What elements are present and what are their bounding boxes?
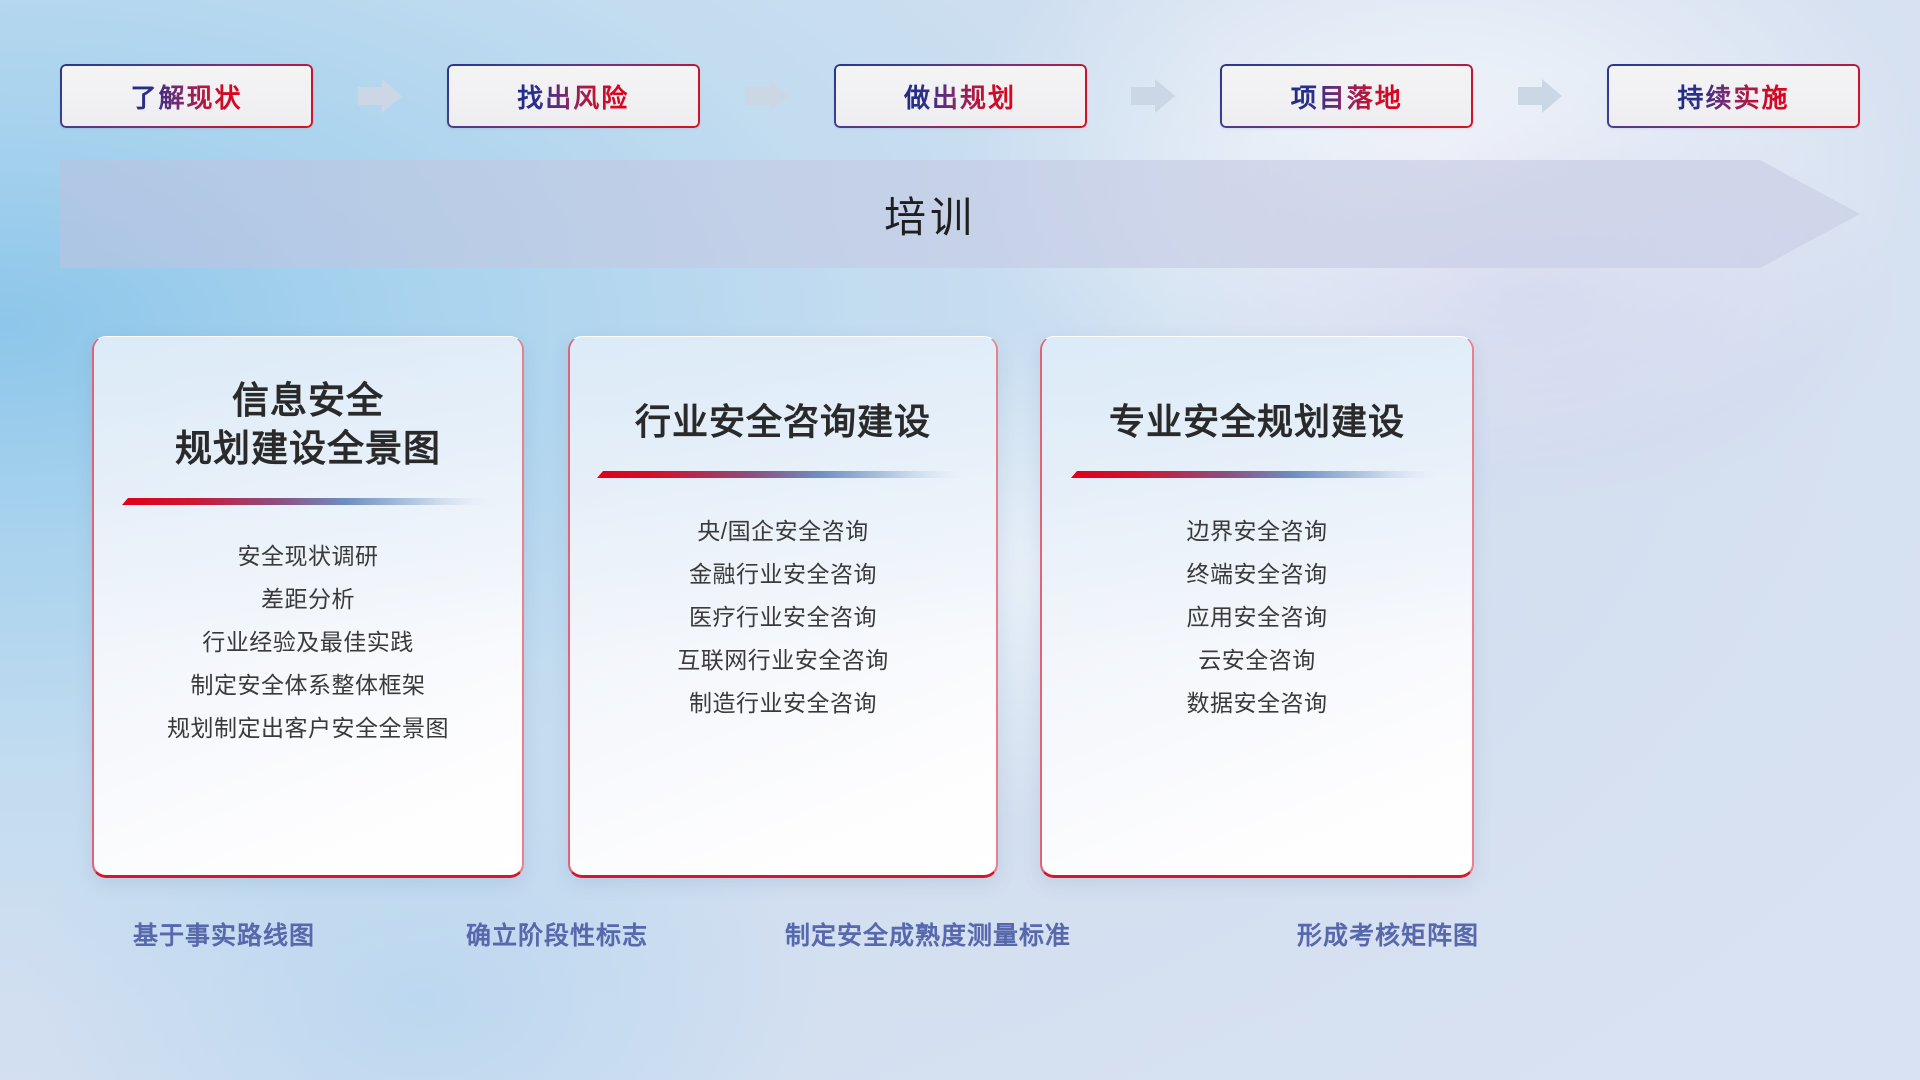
card-item-list: 安全现状调研 差距分析 行业经验及最佳实践 制定安全体系整体框架 规划制定出客户…: [94, 535, 522, 750]
card-divider: [1071, 470, 1443, 480]
caption-roadmap: 基于事实路线图: [133, 916, 315, 952]
caption-maturity-standard: 制定安全成熟度测量标准: [785, 916, 1071, 952]
arrow-right-icon: [1518, 79, 1562, 113]
card-title: 行业安全咨询建设: [635, 399, 931, 446]
arrow-right-icon: [745, 79, 789, 113]
list-item: 云安全咨询: [1042, 639, 1472, 682]
caption-assessment-matrix: 形成考核矩阵图: [1297, 916, 1479, 952]
list-item: 制造行业安全咨询: [570, 682, 996, 725]
card-item-list: 边界安全咨询 终端安全咨询 应用安全咨询 云安全咨询 数据安全咨询: [1042, 510, 1472, 725]
process-step-label: 持续实施: [1677, 78, 1789, 115]
card-information-security-blueprint[interactable]: 信息安全 规划建设全景图: [92, 336, 524, 878]
training-banner: 培训: [60, 160, 1860, 268]
process-step-label: 做出规划: [904, 78, 1016, 115]
caption-milestones: 确立阶段性标志: [466, 916, 648, 952]
process-step-2[interactable]: 找出风险: [447, 64, 700, 128]
card-title-line-1: 行业安全咨询建设: [635, 401, 931, 442]
training-banner-label: 培训: [60, 160, 1860, 268]
list-item: 规划制定出客户安全全景图: [94, 707, 522, 750]
list-item: 金融行业安全咨询: [570, 553, 996, 596]
list-item: 互联网行业安全咨询: [570, 639, 996, 682]
card-divider: [597, 470, 969, 480]
card-title-line-2: 规划建设全景图: [175, 428, 441, 469]
process-step-3[interactable]: 做出规划: [834, 64, 1087, 128]
card-industry-security-consulting[interactable]: 行业安全咨询建设: [568, 336, 998, 878]
list-item: 差距分析: [94, 578, 522, 621]
card-professional-security-planning[interactable]: 专业安全规划建设: [1040, 336, 1474, 878]
arrow-right-icon: [1131, 79, 1175, 113]
card-title-line-1: 信息安全: [232, 380, 384, 421]
process-step-1[interactable]: 了解现状: [60, 64, 313, 128]
list-item: 数据安全咨询: [1042, 682, 1472, 725]
card-title: 信息安全 规划建设全景图: [175, 377, 441, 473]
process-step-row: 了解现状 找出风险 做出规划 项目落地 持续实施: [60, 62, 1860, 130]
list-item: 应用安全咨询: [1042, 596, 1472, 639]
process-step-label: 项目落地: [1291, 78, 1403, 115]
arrow-right-icon: [358, 79, 402, 113]
list-item: 安全现状调研: [94, 535, 522, 578]
list-item: 央/国企安全咨询: [570, 510, 996, 553]
process-step-label: 找出风险: [517, 78, 629, 115]
list-item: 行业经验及最佳实践: [94, 621, 522, 664]
list-item: 边界安全咨询: [1042, 510, 1472, 553]
card-divider: [122, 497, 494, 507]
card-item-list: 央/国企安全咨询 金融行业安全咨询 医疗行业安全咨询 互联网行业安全咨询 制造行…: [570, 510, 996, 725]
cards-row: 信息安全 规划建设全景图: [0, 336, 1920, 876]
card-title: 专业安全规划建设: [1109, 399, 1405, 446]
process-step-label: 了解现状: [130, 78, 242, 115]
list-item: 制定安全体系整体框架: [94, 664, 522, 707]
process-step-4[interactable]: 项目落地: [1220, 64, 1473, 128]
list-item: 医疗行业安全咨询: [570, 596, 996, 639]
card-title-line-1: 专业安全规划建设: [1109, 401, 1405, 442]
list-item: 终端安全咨询: [1042, 553, 1472, 596]
process-step-5[interactable]: 持续实施: [1607, 64, 1860, 128]
